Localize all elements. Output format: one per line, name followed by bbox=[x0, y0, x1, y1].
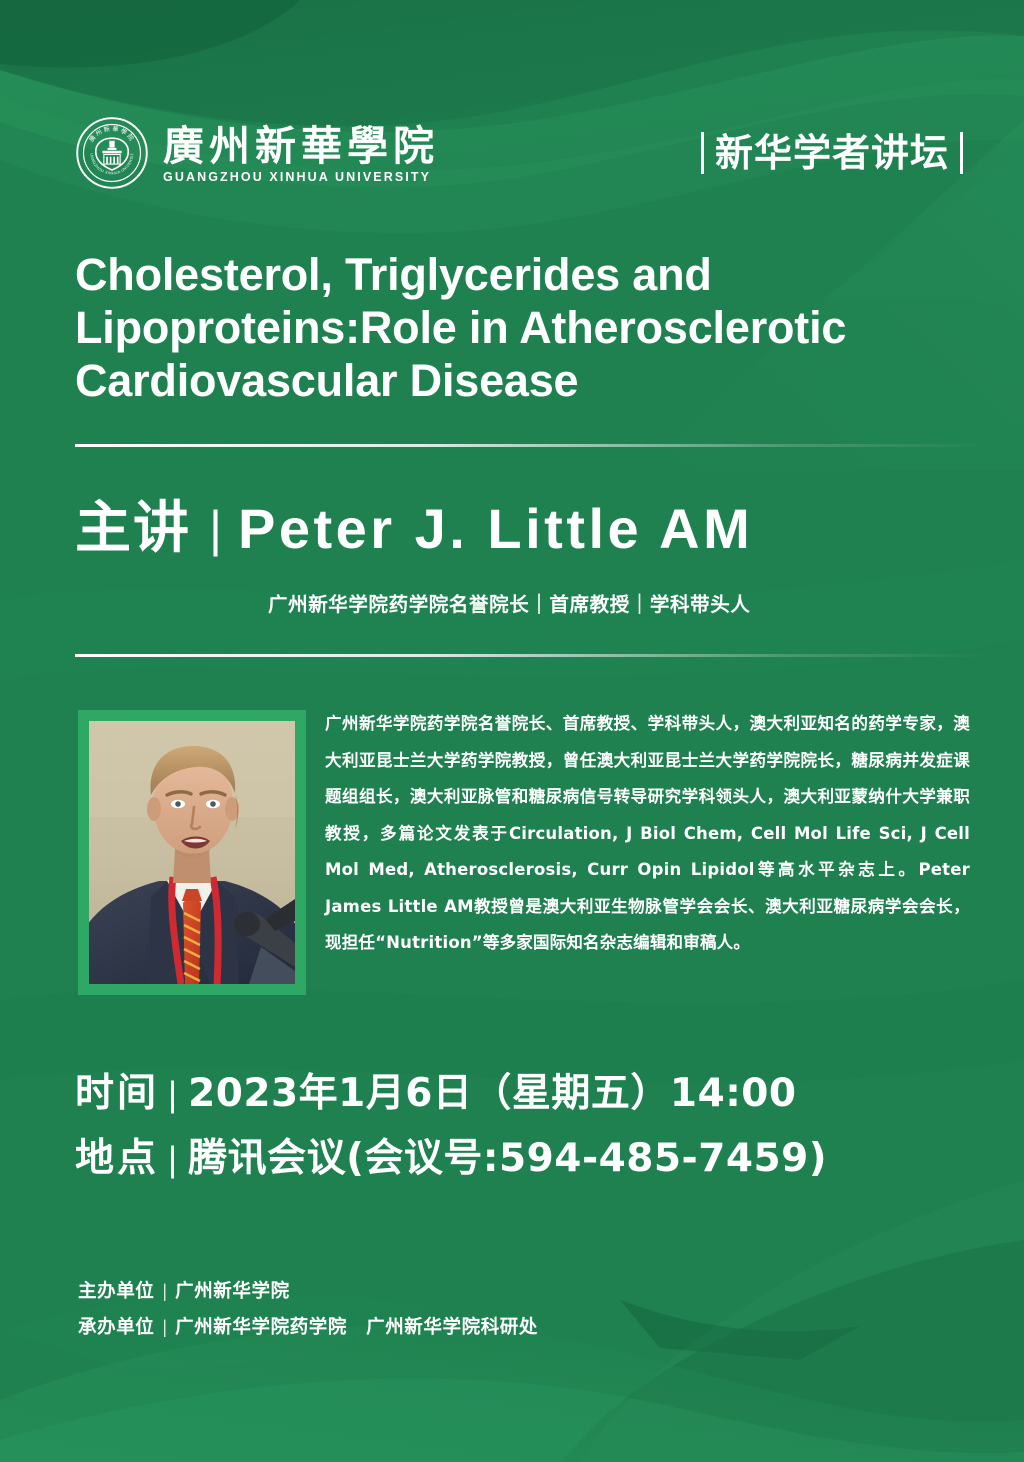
organizer-value: 广州新华学院 bbox=[175, 1279, 290, 1305]
series-badge: 新华学者讲坛 bbox=[701, 131, 969, 175]
host-label: 承办单位 bbox=[78, 1315, 154, 1341]
brand-name-en: GUANGZHOU XINHUA UNIVERSITY bbox=[163, 170, 439, 185]
event-place-row: 地点 | 腾讯会议(会议号:594-485-7459) bbox=[75, 1133, 975, 1186]
speaker-name: Peter J. Little AM bbox=[238, 498, 753, 560]
host-separator: | bbox=[154, 1314, 175, 1340]
host-row: 承办单位 | 广州新华学院药学院 广州新华学院科研处 bbox=[78, 1314, 958, 1341]
lecture-title: Cholesterol, Triglycerides and Lipoprote… bbox=[75, 248, 985, 407]
title-line-1: Cholesterol, Triglycerides and bbox=[75, 248, 985, 301]
poster-header: 廣州新華學院 GUANGZHOU XINHUA UNIVERSITY 廣州新華學… bbox=[75, 112, 969, 194]
event-place-separator: | bbox=[159, 1134, 188, 1186]
speaker-label: 主讲 bbox=[75, 498, 191, 560]
badge-label: 新华学者讲坛 bbox=[715, 131, 949, 175]
badge-left-rule bbox=[701, 132, 704, 174]
event-time-separator: | bbox=[159, 1069, 188, 1121]
event-time-value: 2023年1月6日（星期五）14:00 bbox=[188, 1068, 796, 1120]
speaker-bio: 广州新华学院药学院名誉院长、首席教授、学科带头人，澳大利亚知名的药学专家，澳大利… bbox=[325, 706, 970, 962]
host-value: 广州新华学院药学院 广州新华学院科研处 bbox=[175, 1315, 538, 1341]
university-brand: 廣州新華學院 GUANGZHOU XINHUA UNIVERSITY 廣州新華學… bbox=[75, 116, 439, 190]
speaker-separator: | bbox=[191, 498, 238, 560]
brand-wordmark: 廣州新華學院 GUANGZHOU XINHUA UNIVERSITY bbox=[163, 122, 439, 185]
divider-below-speaker bbox=[75, 654, 990, 657]
event-time-row: 时间 | 2023年1月6日（星期五）14:00 bbox=[75, 1068, 975, 1121]
event-time-label: 时间 bbox=[75, 1068, 159, 1120]
university-seal-icon: 廣州新華學院 GUANGZHOU XINHUA UNIVERSITY bbox=[75, 116, 149, 190]
speaker-photo-frame bbox=[78, 710, 306, 995]
speaker-roles: 广州新华学院药学院名誉院长｜首席教授｜学科带头人 bbox=[268, 592, 750, 618]
title-line-2: Lipoproteins:Role in Atherosclerotic bbox=[75, 301, 985, 354]
speaker-photo bbox=[89, 721, 295, 984]
event-place-label: 地点 bbox=[75, 1133, 159, 1185]
poster-footer: 主办单位 | 广州新华学院 承办单位 | 广州新华学院药学院 广州新华学院科研处 bbox=[78, 1278, 958, 1350]
svg-text:廣州新華學院: 廣州新華學院 bbox=[87, 125, 136, 144]
badge-right-rule bbox=[960, 132, 963, 174]
event-details: 时间 | 2023年1月6日（星期五）14:00 地点 | 腾讯会议(会议号:5… bbox=[75, 1068, 975, 1198]
title-line-3: Cardiovascular Disease bbox=[75, 354, 985, 407]
organizer-row: 主办单位 | 广州新华学院 bbox=[78, 1278, 958, 1305]
brand-name-cn: 廣州新華學院 bbox=[163, 124, 439, 169]
event-place-value: 腾讯会议(会议号:594-485-7459) bbox=[188, 1133, 827, 1185]
speaker-portrait-illustration bbox=[89, 721, 295, 984]
organizer-label: 主办单位 bbox=[78, 1279, 154, 1305]
poster-canvas: 廣州新華學院 GUANGZHOU XINHUA UNIVERSITY 廣州新華學… bbox=[0, 0, 1024, 1462]
organizer-separator: | bbox=[154, 1278, 175, 1304]
divider-below-title bbox=[75, 444, 990, 447]
speaker-headline: 主讲 | Peter J. Little AM bbox=[75, 498, 753, 560]
